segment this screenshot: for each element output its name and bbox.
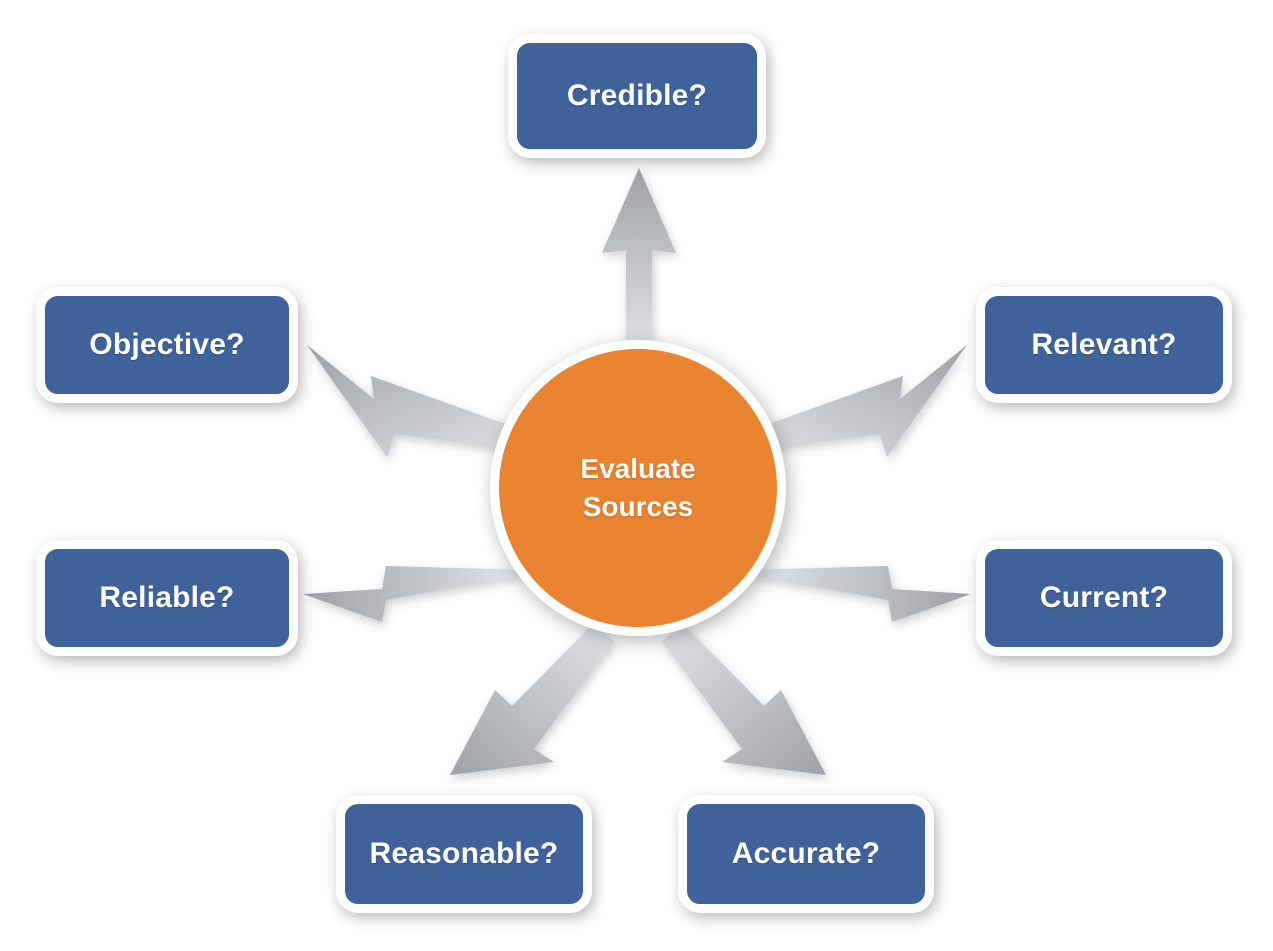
node-credible[interactable]: Credible? [508,34,766,158]
arrow-to-reasonable [450,625,614,775]
node-reliable-label: Reliable? [99,582,234,614]
arrow-to-reliable [303,545,525,622]
node-reasonable[interactable]: Reasonable? [336,795,592,913]
node-objective[interactable]: Objective? [36,287,298,403]
node-current[interactable]: Current? [976,540,1232,656]
arrow-to-credible [602,168,676,352]
hub-label-line1: Evaluate [580,453,695,484]
node-credible-label: Credible? [567,80,707,112]
node-accurate[interactable]: Accurate? [678,795,934,913]
hub-label: Evaluate Sources [580,450,695,526]
node-reliable[interactable]: Reliable? [36,540,298,656]
hub-evaluate-sources[interactable]: Evaluate Sources [490,340,786,636]
node-relevant-label: Relevant? [1031,329,1176,361]
diagram-canvas: Evaluate Sources Credible? Objective? Re… [0,0,1273,951]
node-relevant[interactable]: Relevant? [976,287,1232,403]
node-current-label: Current? [1040,582,1168,614]
node-accurate-label: Accurate? [732,838,881,870]
arrow-to-accurate [662,625,826,775]
hub-label-line2: Sources [583,491,694,522]
arrow-to-current [749,545,971,622]
node-reasonable-label: Reasonable? [370,838,559,870]
node-objective-label: Objective? [89,329,244,361]
